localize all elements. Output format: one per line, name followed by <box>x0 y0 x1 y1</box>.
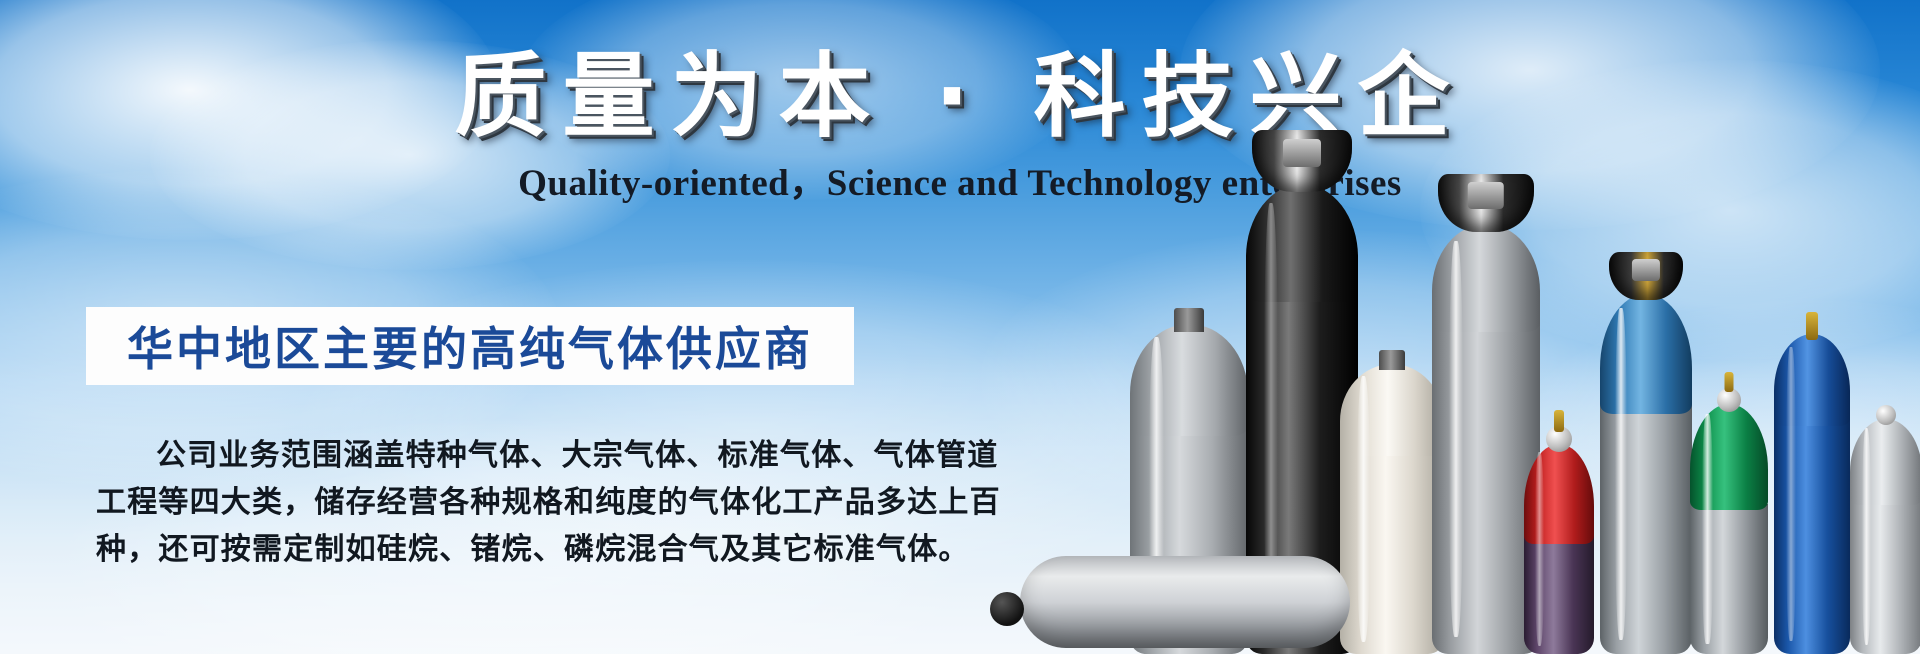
gas-cylinder-group <box>1150 150 1920 654</box>
paragraph-line-1: 公司业务范围涵盖特种气体、大宗气体、标准气体、气体管道 <box>96 432 886 479</box>
blue-valve-cylinder <box>1600 294 1692 654</box>
banner-paragraph: 公司业务范围涵盖特种气体、大宗气体、标准气体、气体管道 工程等四大类，储存经营各… <box>96 432 886 573</box>
highlight-box: 华中地区主要的高纯气体供应商 <box>86 307 854 385</box>
white-cream-cylinder <box>1340 364 1444 654</box>
paragraph-line-3: 种，还可按需定制如硅烷、锗烷、磷烷混合气及其它标准气体。 <box>96 526 886 573</box>
green-top-cylinder <box>1690 404 1768 654</box>
paragraph-line-2: 工程等四大类，储存经营各种规格和纯度的气体化工产品多达上百 <box>96 479 886 526</box>
horizontal-silver-tank <box>1020 556 1350 648</box>
aluminium-cylinder <box>1850 419 1920 654</box>
promo-banner: 质量为本 · 科技兴企 Quality-oriented，Science and… <box>0 0 1920 654</box>
banner-headline: 质量为本 · 科技兴企 <box>0 22 1920 155</box>
horizontal-tank-valve <box>990 592 1024 626</box>
red-top-cylinder <box>1524 444 1594 654</box>
highlight-box-text: 华中地区主要的高纯气体供应商 <box>127 313 813 379</box>
blue-slim-cylinder <box>1774 334 1850 654</box>
